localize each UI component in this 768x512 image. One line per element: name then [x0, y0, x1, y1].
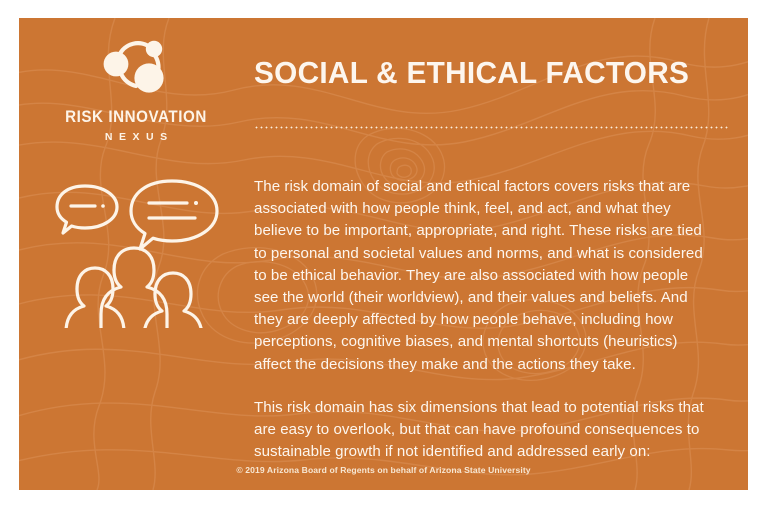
speech-bubble-icon	[131, 181, 217, 249]
paragraph-dimensions: This risk domain has six dimensions that…	[254, 397, 706, 464]
dotted-divider	[254, 126, 728, 129]
brand-logo[interactable]: RISK INNOVATION NEXUS	[41, 34, 231, 143]
speech-bubble-icon	[57, 186, 117, 233]
paragraph-intro: The risk domain of social and ethical fa…	[254, 176, 706, 376]
wordmark-secondary: NEXUS	[41, 131, 231, 143]
slide-canvas: RISK INNOVATION NEXUS	[0, 0, 768, 512]
nexus-network-icon	[97, 34, 175, 100]
wordmark-primary: RISK INNOVATION	[49, 108, 224, 127]
body-copy: The risk domain of social and ethical fa…	[254, 176, 706, 463]
copyright-notice: © 2019 Arizona Board of Regents on behal…	[19, 465, 748, 475]
people-speech-bubbles-illustration	[55, 178, 225, 328]
three-people-icon	[66, 248, 202, 328]
page-title: SOCIAL & ETHICAL FACTORS	[254, 55, 689, 91]
orange-content-panel: RISK INNOVATION NEXUS	[19, 18, 748, 490]
